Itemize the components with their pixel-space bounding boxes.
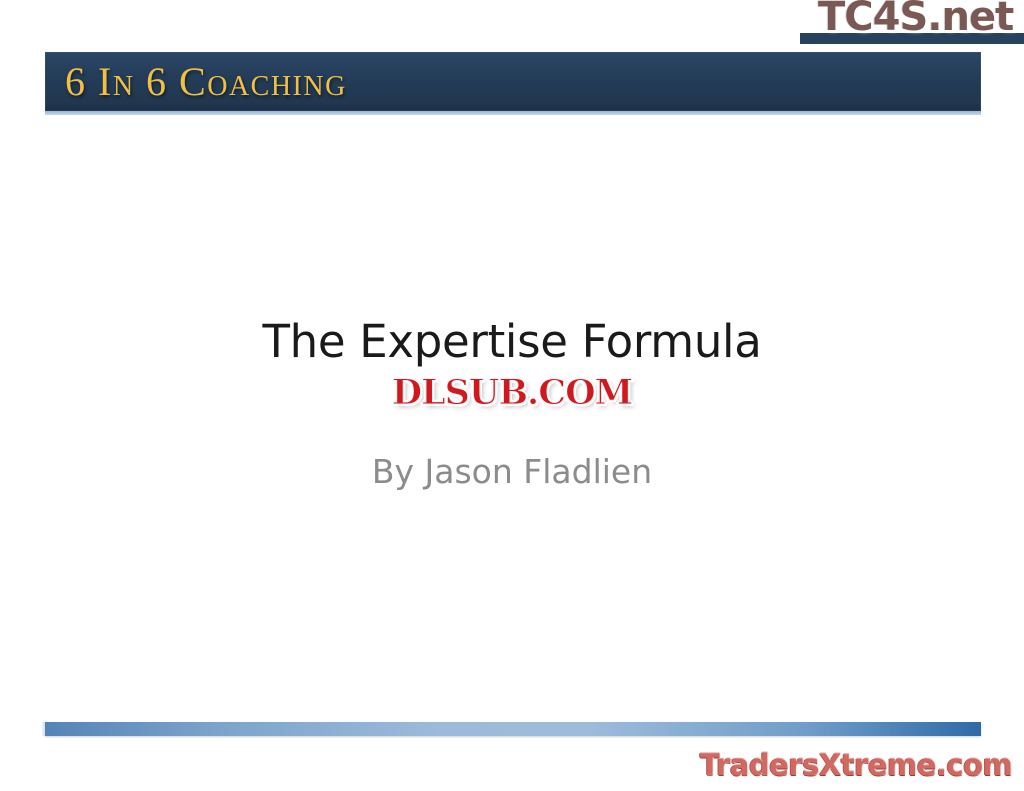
header-banner-title: 6 In 6 Coaching bbox=[65, 58, 347, 105]
watermark-center: DLSUB.COM bbox=[0, 372, 1024, 413]
watermark-top-right: TC4S.net bbox=[790, 0, 1024, 48]
bottom-decorative-bar bbox=[45, 722, 981, 736]
watermark-bottom-right: TradersXtreme.com bbox=[700, 748, 1012, 782]
slide-canvas: TC4S.net 6 In 6 Coaching The Expertise F… bbox=[0, 0, 1024, 791]
watermark-center-label: DLSUB.COM bbox=[392, 372, 633, 413]
header-banner: 6 In 6 Coaching bbox=[45, 52, 981, 111]
watermark-top-right-label: TC4S.net bbox=[818, 0, 1013, 40]
slide-subtitle: By Jason Fladlien bbox=[0, 452, 1024, 491]
header-banner-underline bbox=[45, 111, 981, 115]
slide-title: The Expertise Formula bbox=[0, 315, 1024, 368]
